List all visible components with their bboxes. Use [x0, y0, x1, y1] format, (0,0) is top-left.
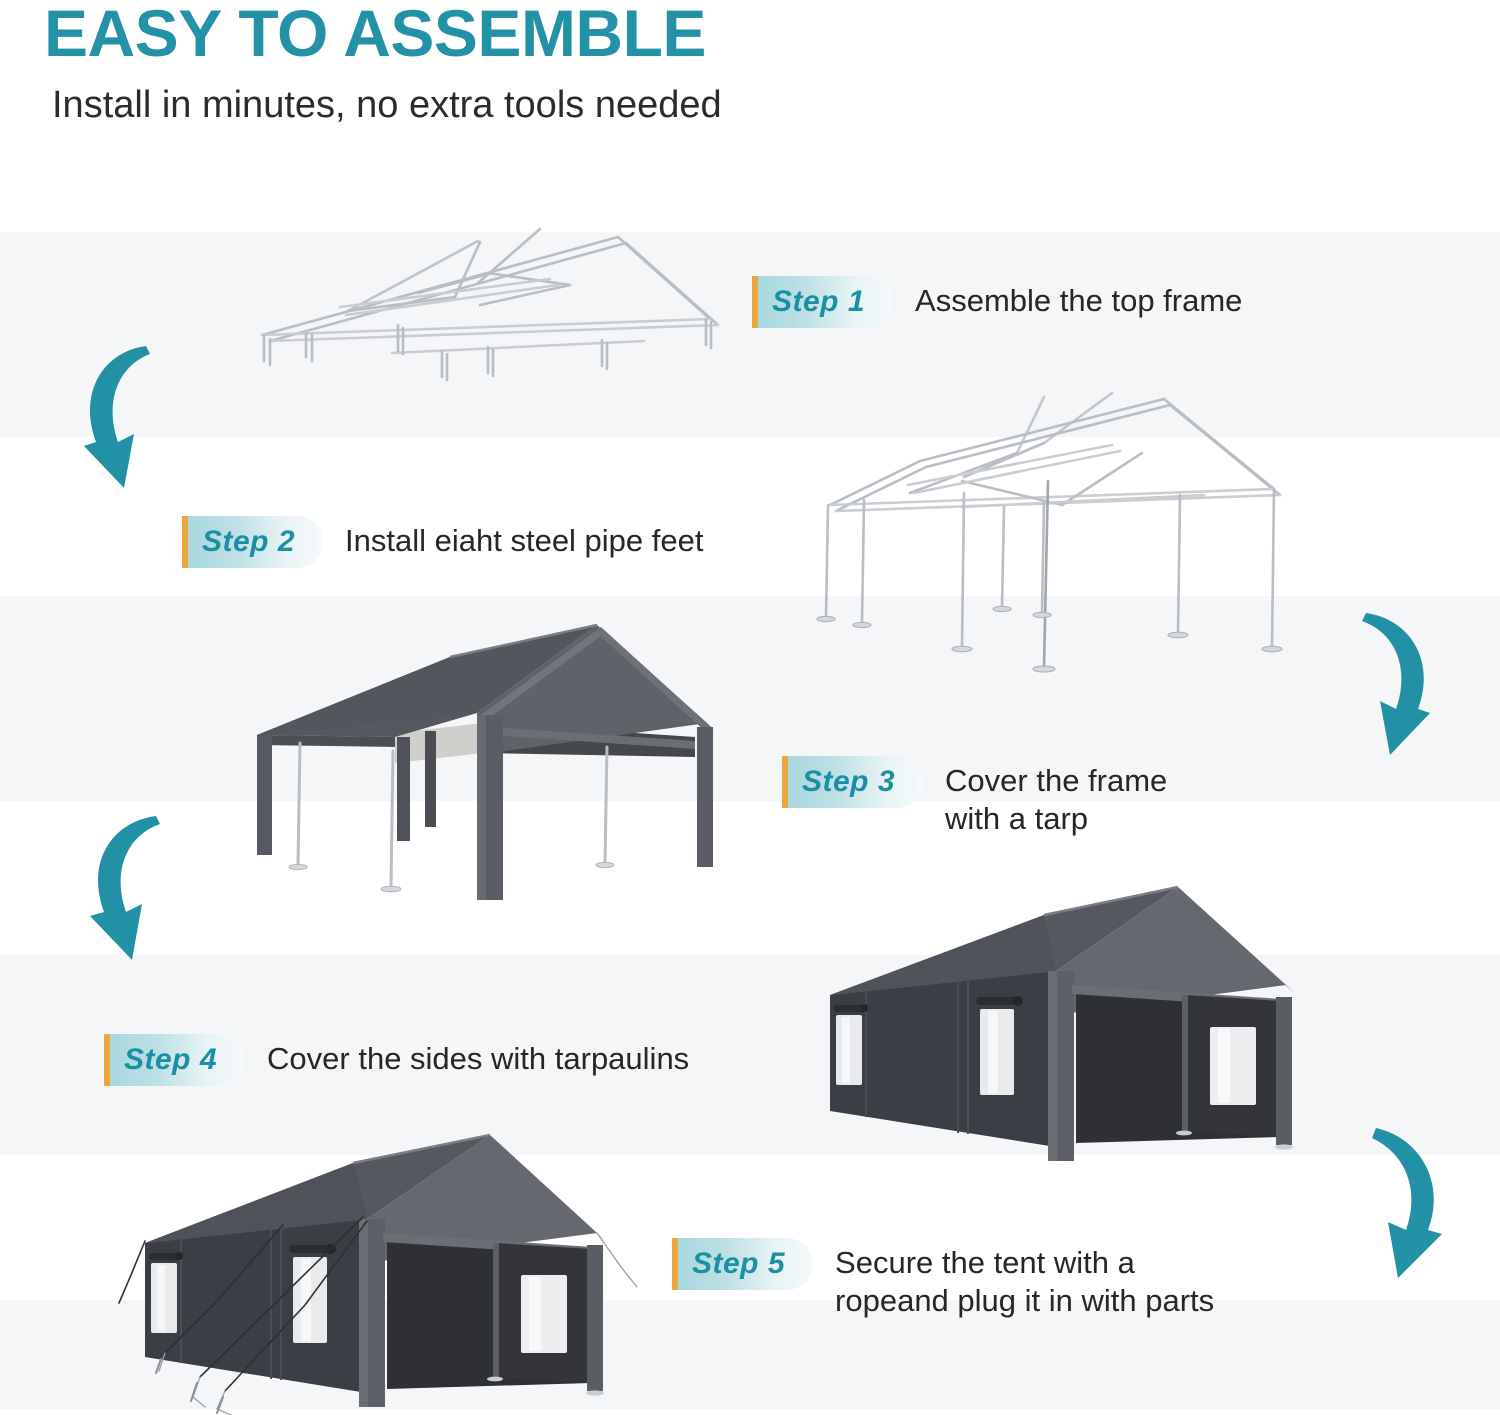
step-description-1: Assemble the top frame: [915, 276, 1242, 320]
header: EASY TO ASSEMBLE Install in minutes, no …: [44, 0, 722, 127]
step-badge-5: Step 5: [672, 1238, 813, 1290]
illustration-full-frame-with-legs: [812, 385, 1322, 685]
flow-arrow-3-icon: [78, 808, 203, 973]
illustration-carport-with-side-walls: [808, 875, 1318, 1175]
flow-arrow-4-icon: [1328, 1128, 1453, 1293]
step-row-4: Step 4 Cover the sides with tarpaulins: [104, 1034, 689, 1086]
flow-arrow-2-icon: [1318, 605, 1443, 770]
step-badge-4: Step 4: [104, 1034, 245, 1086]
step-description-4: Cover the sides with tarpaulins: [267, 1034, 689, 1078]
step-row-2: Step 2 Install eiaht steel pipe feet: [182, 516, 703, 568]
illustration-roof-frame-skeleton: [240, 215, 750, 390]
step-description-3: Cover the frame with a tarp: [945, 756, 1167, 838]
step-description-2: Install eiaht steel pipe feet: [345, 516, 703, 560]
flow-arrow-1-icon: [72, 338, 192, 503]
step-badge-label: Step 1: [772, 285, 865, 319]
step-badge-2: Step 2: [182, 516, 323, 568]
page-subtitle: Install in minutes, no extra tools neede…: [52, 84, 722, 127]
step-badge-1: Step 1: [752, 276, 893, 328]
step-description-5: Secure the tent with a ropeand plug it i…: [835, 1238, 1214, 1320]
step-badge-label: Step 5: [692, 1247, 785, 1281]
illustration-carport-with-roof-tarp: [245, 615, 725, 905]
step-row-3: Step 3 Cover the frame with a tarp: [782, 756, 1167, 838]
page-title: EASY TO ASSEMBLE: [44, 0, 722, 66]
illustration-carport-with-guy-ropes: [105, 1125, 650, 1415]
step-badge-label: Step 2: [202, 525, 295, 559]
step-row-1: Step 1 Assemble the top frame: [752, 276, 1242, 328]
step-row-5: Step 5 Secure the tent with a ropeand pl…: [672, 1238, 1214, 1320]
step-badge-label: Step 3: [802, 765, 895, 799]
step-badge-3: Step 3: [782, 756, 923, 808]
step-badge-label: Step 4: [124, 1043, 217, 1077]
